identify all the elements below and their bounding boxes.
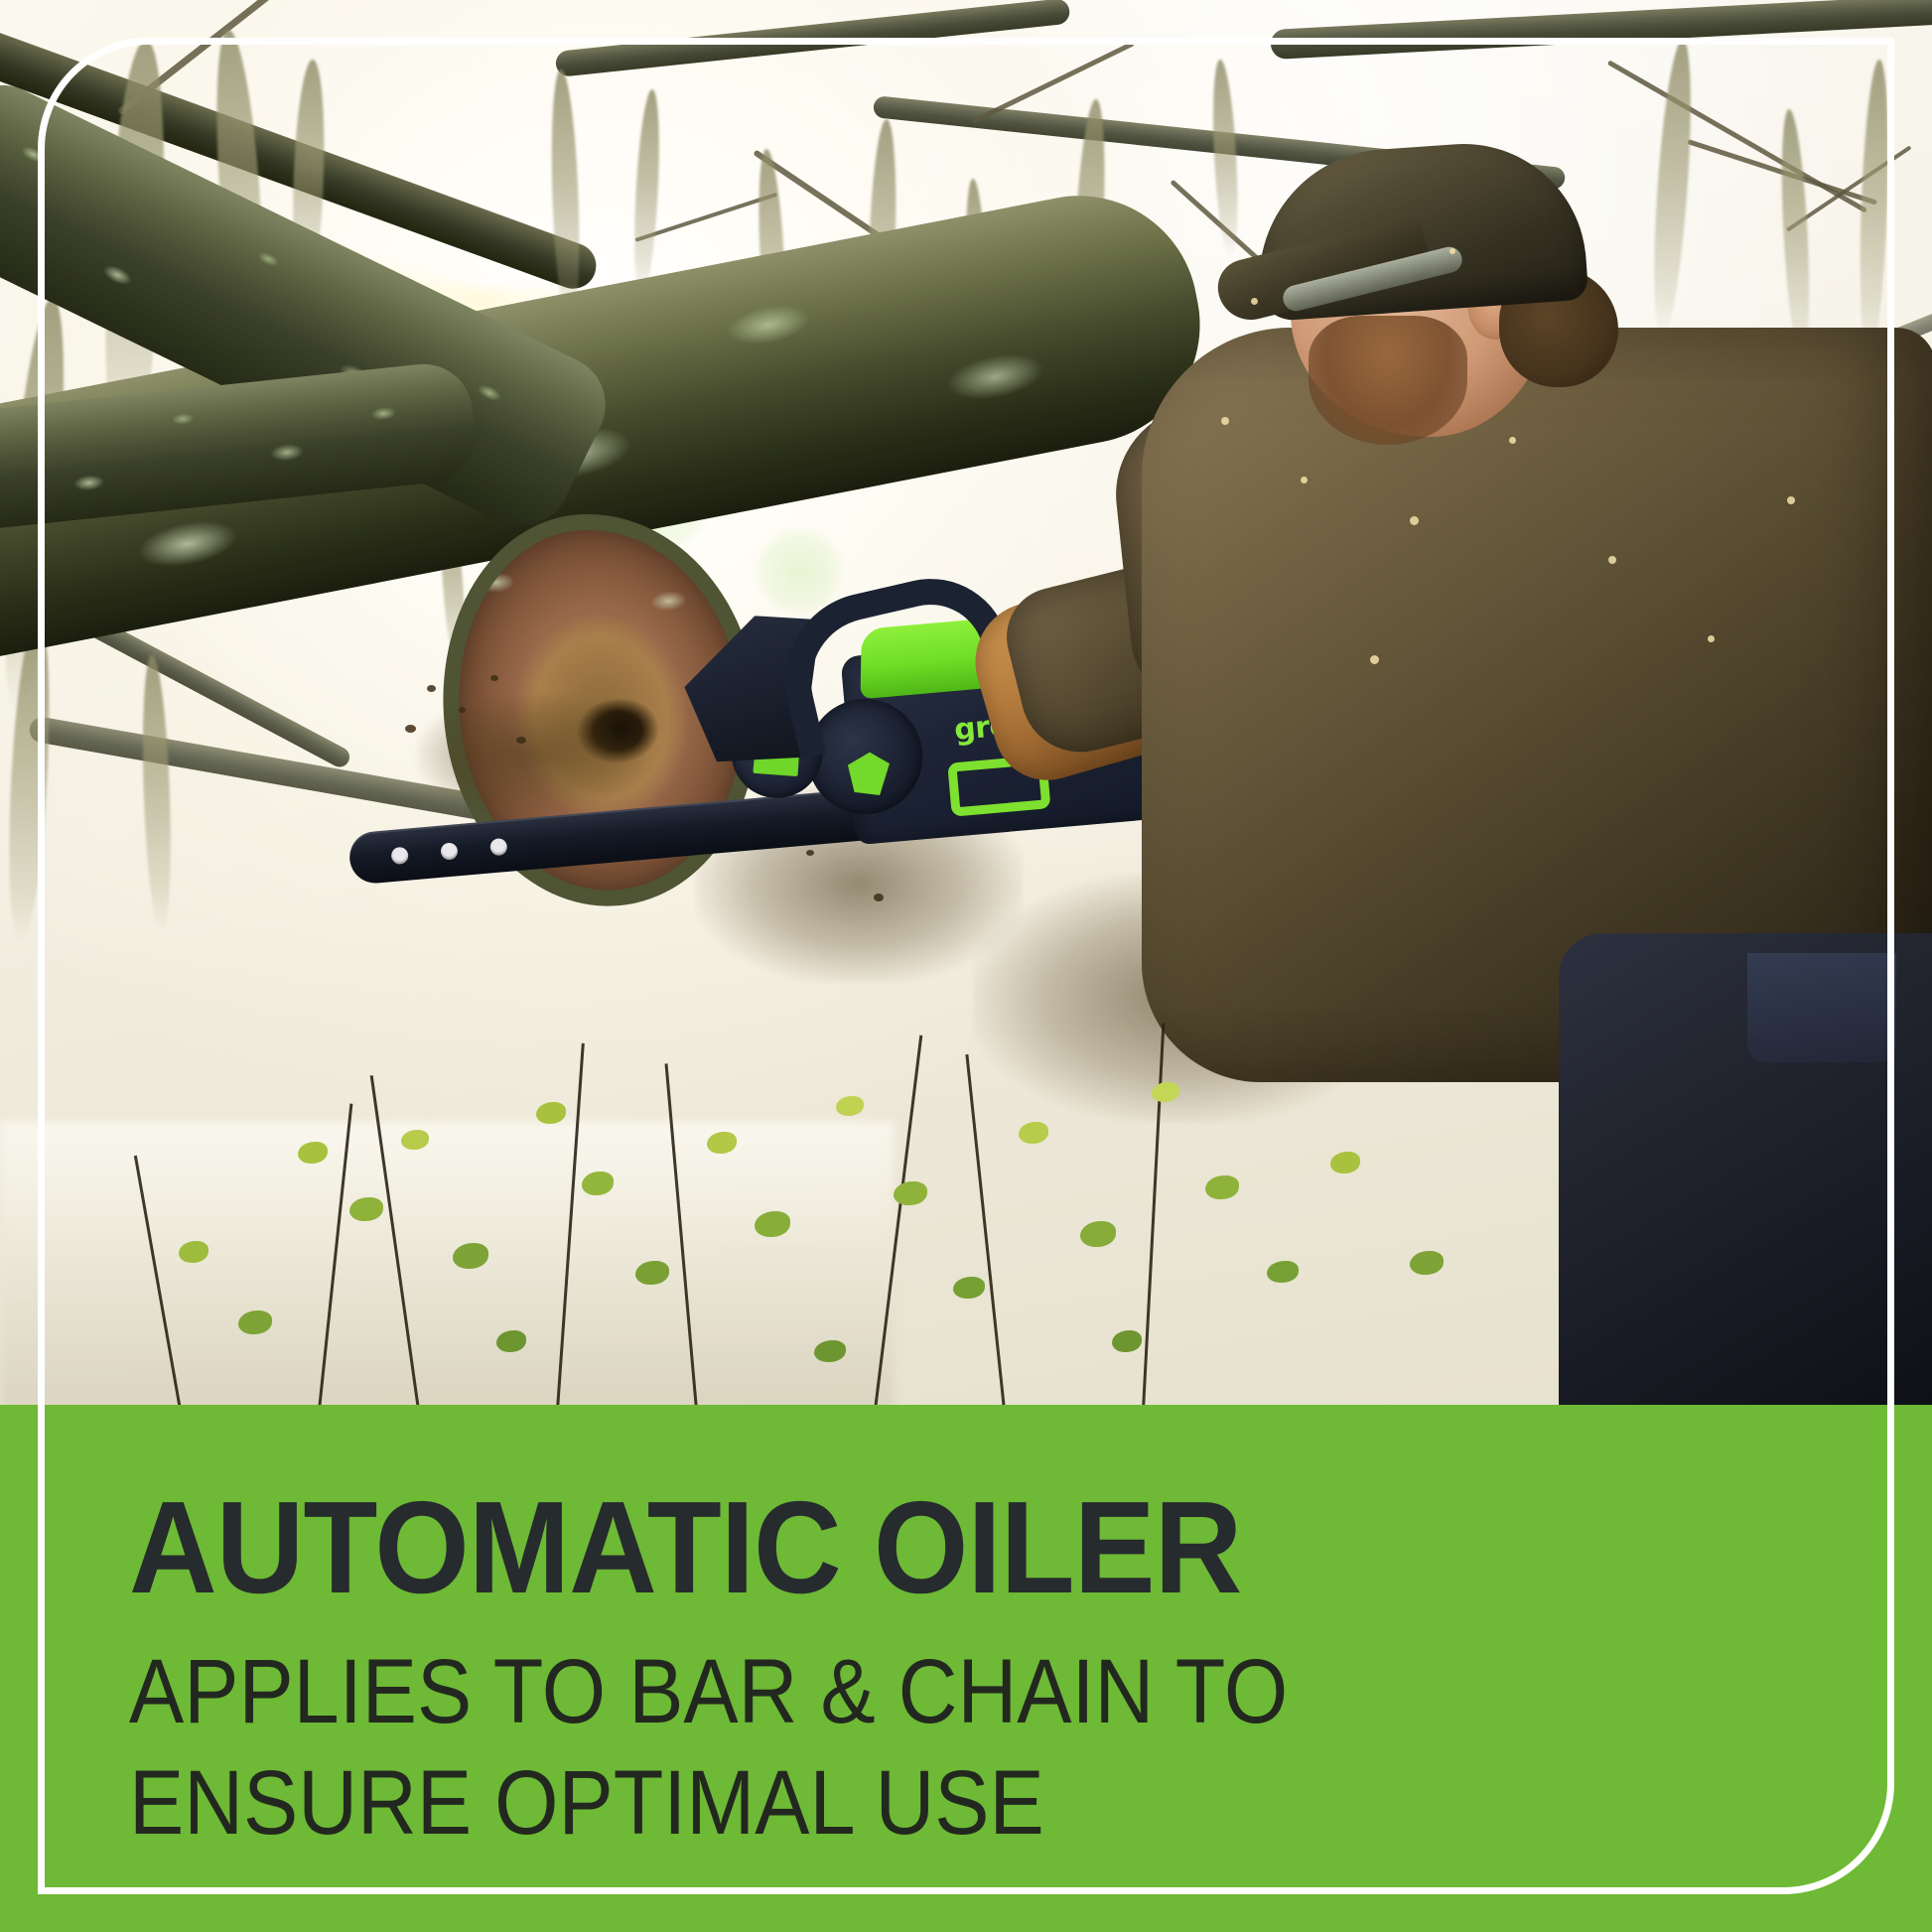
leaf-15 [1152, 1082, 1179, 1102]
leaf-21 [1410, 1251, 1444, 1275]
sapling-stem-8 [134, 1156, 182, 1408]
leaf-6 [582, 1172, 614, 1195]
jacket-sawdust-9 [1449, 248, 1455, 254]
leaf-7 [635, 1261, 669, 1285]
leaf-20 [1330, 1152, 1360, 1173]
jacket-sawdust-8 [1251, 298, 1258, 305]
leaf-5 [536, 1102, 566, 1124]
headline: AUTOMATIC OILER [129, 1482, 1514, 1613]
sapling-stem-6 [965, 1054, 1006, 1408]
leaf-19 [238, 1311, 272, 1334]
leaf-8 [707, 1132, 737, 1154]
subheadline-line-1: APPLIES TO BAR & CHAIN TO [129, 1636, 1469, 1747]
bar-oil-hole-1 [390, 847, 408, 865]
jacket-sawdust-5 [1608, 556, 1616, 564]
leaf-23 [814, 1340, 846, 1362]
leaf-13 [1019, 1122, 1048, 1144]
jacket-sawdust-3 [1410, 516, 1419, 525]
beard [1309, 316, 1467, 445]
sawdust-fleck-5 [516, 737, 526, 744]
sawdust-fleck-8 [874, 894, 884, 901]
jacket-sawdust-1 [1221, 417, 1229, 425]
subheadline-line-2: ENSURE OPTIMAL USE [129, 1747, 1469, 1859]
bar-oil-hole-2 [440, 842, 458, 860]
leaf-14 [1080, 1221, 1116, 1247]
leaf-17 [1267, 1261, 1299, 1283]
bar-oil-hole-3 [489, 838, 507, 856]
leaf-24 [1112, 1330, 1142, 1352]
sapling-stem-7 [1142, 1023, 1165, 1408]
sawdust-fleck-1 [427, 685, 436, 692]
leaf-16 [1205, 1175, 1239, 1199]
leaf-2 [349, 1197, 383, 1221]
jacket-sawdust-4 [1509, 437, 1516, 444]
leaf-10 [836, 1096, 864, 1116]
jacket-sawdust-2 [1301, 477, 1308, 483]
sapling-stem-3 [556, 1043, 585, 1408]
sapling-stem-4 [665, 1063, 698, 1408]
leaf-12 [953, 1277, 985, 1299]
leaf-9 [755, 1211, 790, 1237]
jacket-sawdust-7 [1370, 655, 1379, 664]
sapling-stem-5 [874, 1035, 922, 1408]
leaf-22 [496, 1330, 526, 1352]
leaf-11 [894, 1181, 927, 1205]
sawdust-fleck-2 [459, 707, 466, 713]
jacket-sawdust-10 [1787, 496, 1795, 504]
leaf-18 [179, 1241, 208, 1263]
leaf-4 [453, 1243, 488, 1269]
hero-photo: greenworks [0, 0, 1932, 1408]
sawdust-fleck-3 [405, 725, 416, 733]
sawdust-cloud-1 [417, 695, 645, 814]
leaf-1 [298, 1142, 328, 1164]
sapling-stem-2 [370, 1075, 420, 1408]
sawdust-fleck-4 [490, 675, 498, 681]
subheadline: APPLIES TO BAR & CHAIN TO ENSURE OPTIMAL… [129, 1636, 1469, 1859]
promo-card: greenworks [0, 0, 1932, 1932]
leaf-3 [401, 1130, 429, 1150]
foreground-brush [0, 1013, 1932, 1408]
jacket-sawdust-6 [1708, 635, 1715, 642]
